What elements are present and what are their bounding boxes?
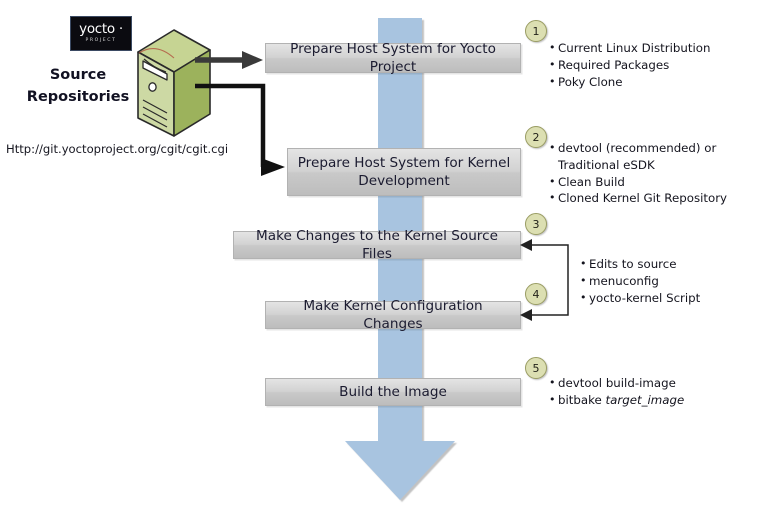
step-number-1: 1 [525, 20, 547, 42]
source-label-line2: Repositories [18, 86, 138, 108]
bullet-dot-icon: • [549, 40, 558, 56]
bullet-dot-icon: • [580, 290, 589, 306]
step-number-5: 5 [525, 357, 547, 379]
bullet-text: Edits to source [589, 256, 765, 273]
bullet-text: Cloned Kernel Git Repository [558, 190, 759, 207]
process-box-step-5[interactable]: Build the Image [265, 378, 521, 406]
bullet-dot-icon: • [580, 256, 589, 272]
list-item: • Poky Clone [549, 74, 754, 91]
bullet-text: devtool build-image [558, 375, 754, 392]
process-box-step-4[interactable]: Make Kernel Configuration Changes [265, 301, 521, 329]
step-number-2: 2 [525, 126, 547, 148]
bullet-text: yocto-kernel Script [589, 290, 765, 307]
diagram-canvas: yocto · PROJECT Source Repositories Http… [0, 0, 769, 517]
bullet-text: Poky Clone [558, 74, 754, 91]
bullet-dot-icon: • [549, 375, 558, 391]
bullet-text: Clean Build [558, 174, 759, 191]
list-item: • yocto-kernel Script [580, 290, 765, 307]
yocto-logo-sub-text: PROJECT [85, 39, 116, 44]
list-item: • Cloned Kernel Git Repository [549, 190, 759, 207]
process-box-step-1[interactable]: Prepare Host System for Yocto Project [265, 43, 521, 73]
list-item: • Current Linux Distribution [549, 40, 754, 57]
bullet-text: devtool (recommended) or Traditional eSD… [558, 140, 759, 174]
step-1-bullet-list: • Current Linux Distribution • Required … [549, 40, 754, 90]
list-item: • devtool build-image [549, 375, 754, 392]
list-item: • menuconfig [580, 273, 765, 290]
bullet-dot-icon: • [549, 392, 558, 408]
bullet-text: Current Linux Distribution [558, 40, 754, 57]
list-item: • Edits to source [580, 256, 765, 273]
steps-3-4-bullet-list: • Edits to source • menuconfig • yocto-k… [580, 256, 765, 306]
bullet-dot-icon: • [580, 273, 589, 289]
step-number-3: 3 [525, 213, 547, 235]
list-item: • Required Packages [549, 57, 754, 74]
bullet-dot-icon: • [549, 57, 558, 73]
bullet-text-lead: bitbake [558, 393, 606, 407]
bullet-text-italic: target_image [606, 393, 685, 407]
yocto-project-logo: yocto · PROJECT [70, 16, 132, 51]
bullet-dot-icon: • [549, 190, 558, 206]
feedback-loop-connector [518, 236, 588, 326]
process-box-step-2[interactable]: Prepare Host System for Kernel Developme… [287, 148, 521, 196]
bullet-text: bitbake target_image [558, 392, 754, 409]
bullet-dot-icon: • [549, 174, 558, 190]
source-label-line1: Source [18, 64, 138, 86]
bullet-text: menuconfig [589, 273, 765, 290]
list-item: • Clean Build [549, 174, 759, 191]
list-item: • bitbake target_image [549, 392, 754, 409]
source-repositories-label: Source Repositories [18, 64, 138, 109]
step-2-bullet-list: • devtool (recommended) or Traditional e… [549, 140, 759, 207]
bullet-dot-icon: • [549, 140, 558, 156]
list-item: • devtool (recommended) or Traditional e… [549, 140, 759, 174]
step-5-bullet-list: • devtool build-image • bitbake target_i… [549, 375, 754, 409]
bullet-dot-icon: • [549, 74, 558, 90]
bullet-text: Required Packages [558, 57, 754, 74]
process-box-step-3[interactable]: Make Changes to the Kernel Source Files [233, 231, 521, 259]
yocto-logo-main-text: yocto · [79, 23, 123, 37]
